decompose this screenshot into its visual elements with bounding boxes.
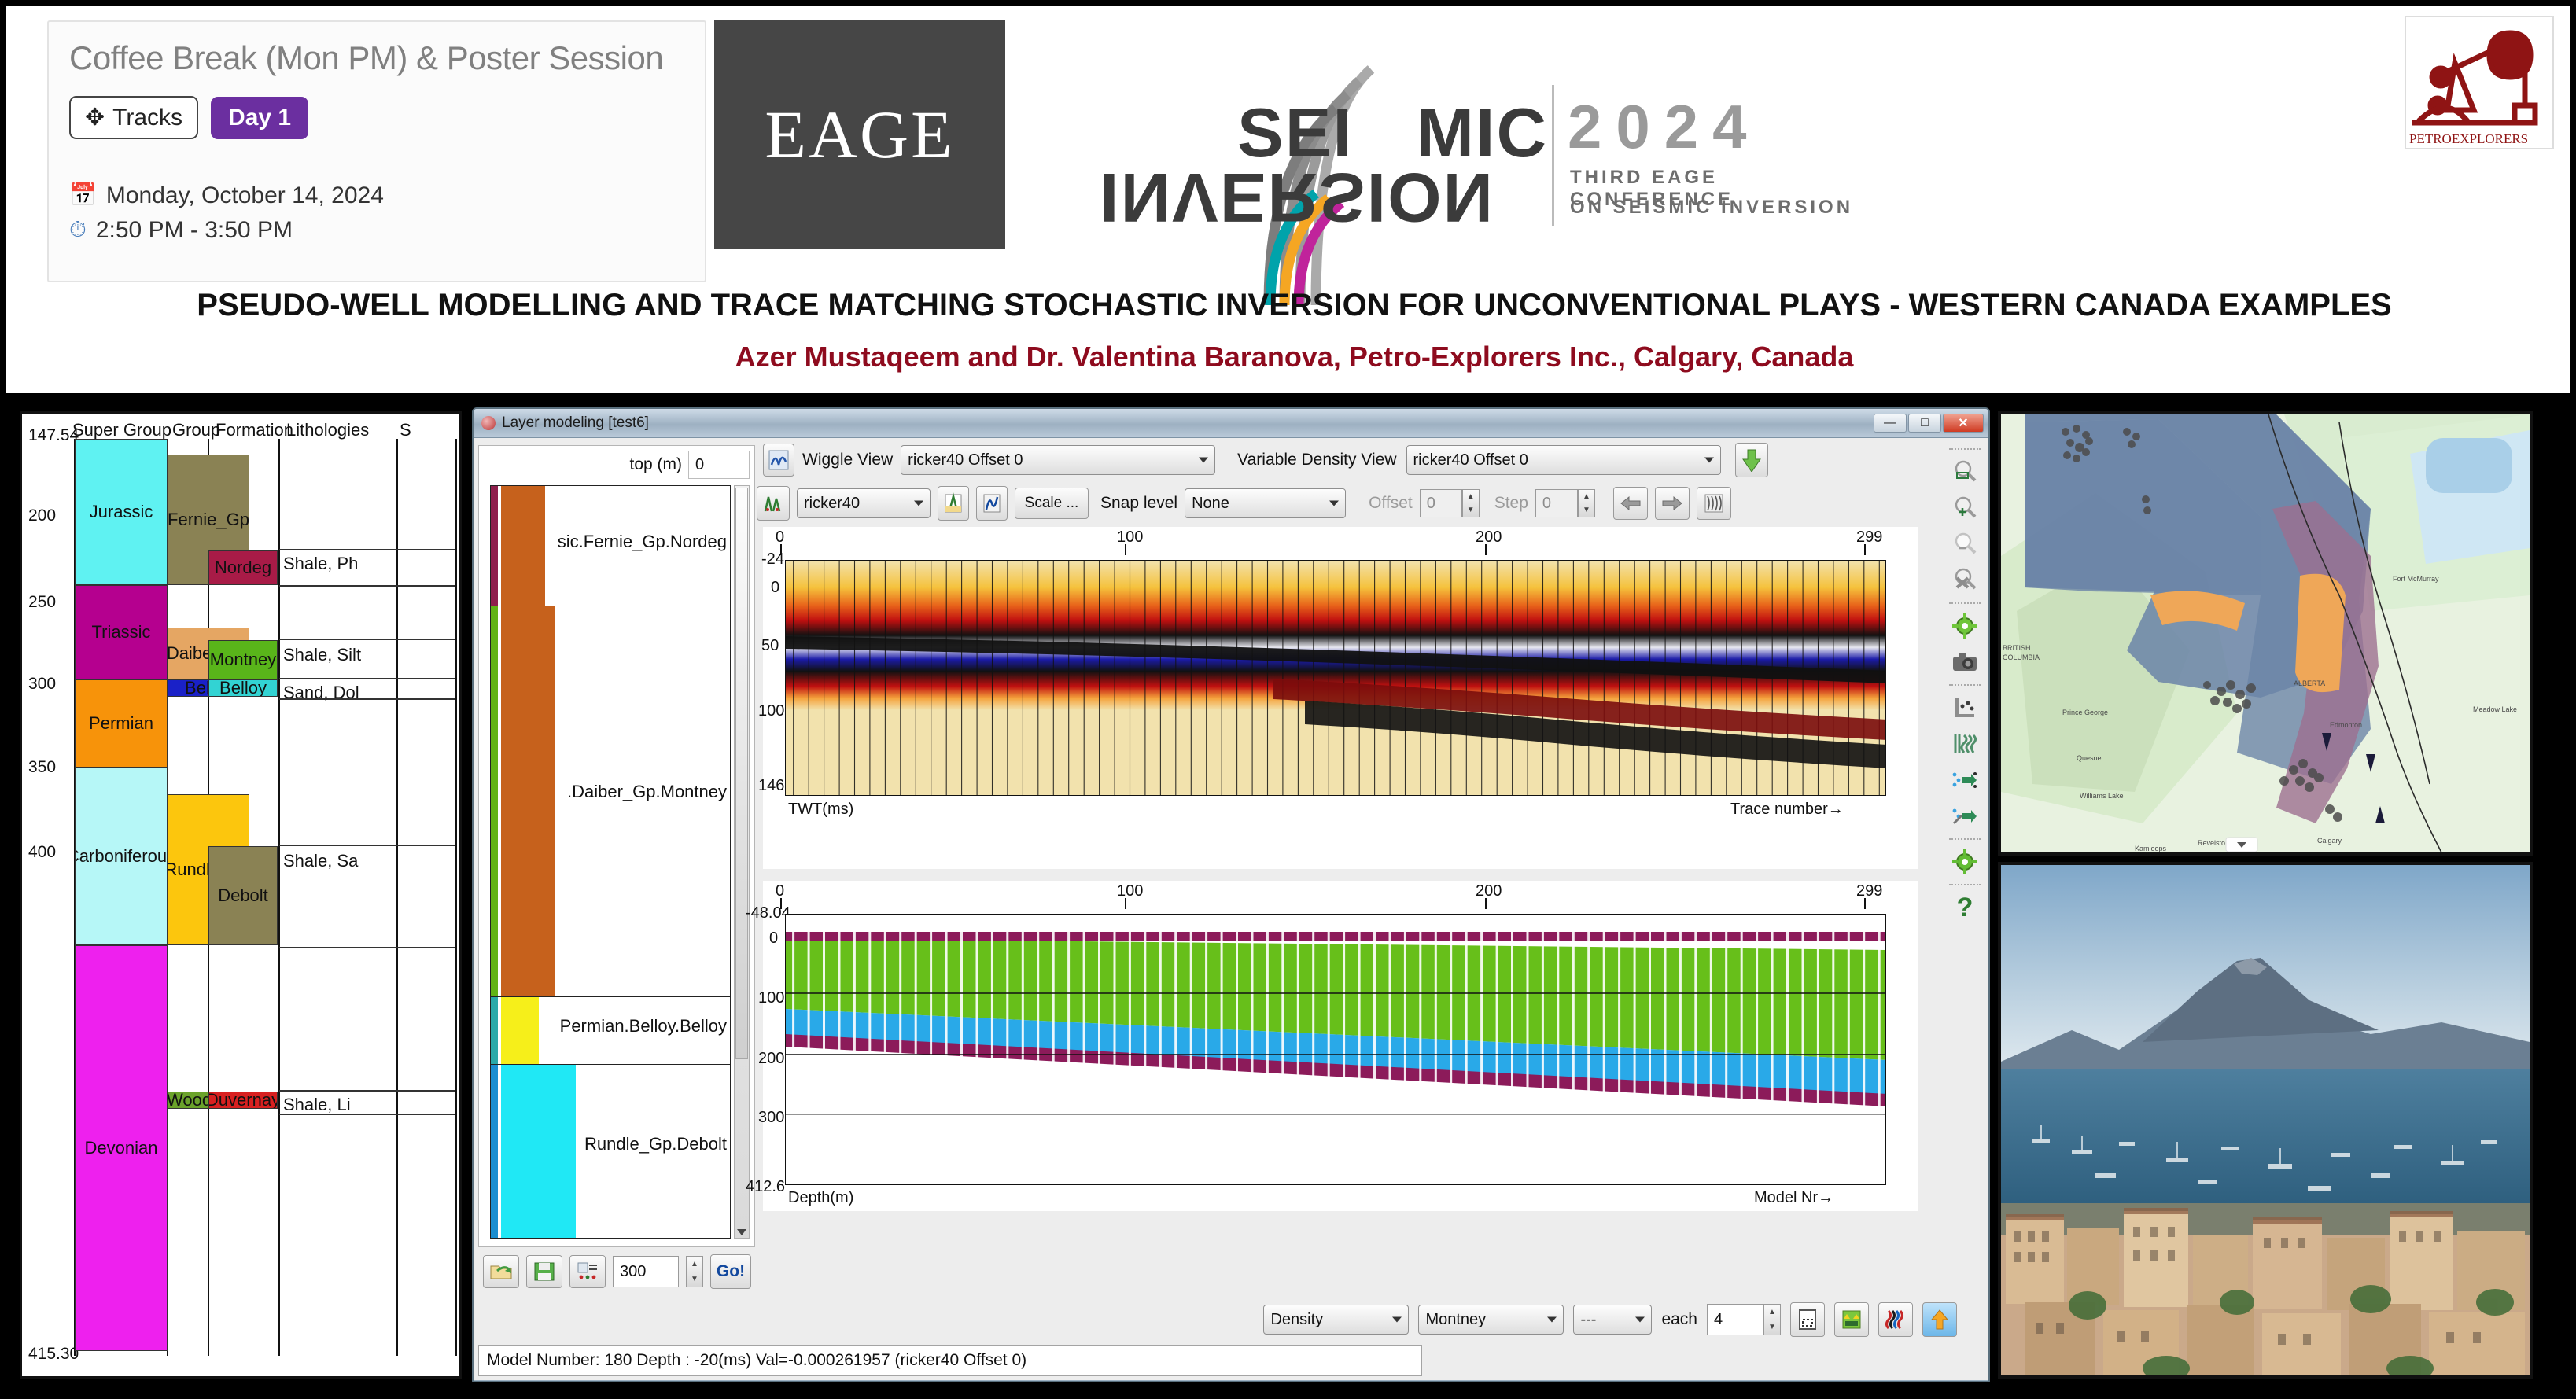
traces-icon[interactable] bbox=[1948, 727, 1982, 761]
model-toolbar: 300 ▲▼ Go! bbox=[478, 1252, 755, 1291]
session-date: Monday, October 14, 2024 bbox=[106, 179, 384, 213]
help-icon[interactable]: ? bbox=[1948, 890, 1982, 925]
step-input[interactable]: 0 bbox=[1535, 489, 1578, 517]
noise-edit-icon[interactable] bbox=[1948, 799, 1982, 834]
wavelet-select-value: ricker40 bbox=[804, 495, 860, 513]
svg-text:Quesnel: Quesnel bbox=[2077, 754, 2103, 762]
stratigraphic-column-panel: Super Group Group Formation Lithologies … bbox=[20, 411, 462, 1379]
each-input[interactable]: 4 bbox=[1707, 1304, 1763, 1335]
zoom-out-icon[interactable] bbox=[1948, 527, 1982, 561]
depth-tick-400: 400 bbox=[28, 843, 56, 862]
property-value: Density bbox=[1270, 1311, 1323, 1329]
layer-segment-label: Rundle_Gp.Debolt bbox=[584, 1134, 727, 1154]
go-button[interactable]: Go! bbox=[710, 1254, 751, 1289]
status-bar: Model Number: 180 Depth : -20(ms) Val=-0… bbox=[478, 1345, 1422, 1376]
svg-text:COLUMBIA: COLUMBIA bbox=[2003, 653, 2040, 661]
svg-text:Edmonton: Edmonton bbox=[2330, 721, 2362, 729]
zoom-reset-icon[interactable] bbox=[1948, 563, 1982, 598]
window-titlebar[interactable]: Layer modeling [test6] — □ ✕ bbox=[474, 409, 1988, 438]
poster-body: Super Group Group Formation Lithologies … bbox=[0, 399, 2576, 1399]
y-tick-m24: -24 bbox=[761, 550, 784, 569]
settings-gear-icon[interactable] bbox=[1948, 609, 1982, 643]
offset-stepper[interactable]: ▲▼ bbox=[1462, 489, 1480, 517]
export-up-arrow-icon[interactable] bbox=[1922, 1302, 1957, 1337]
lithology-belloy: Sand, Dol bbox=[283, 683, 359, 703]
depth-tick-300: 300 bbox=[28, 675, 56, 694]
layer-segment-label: sic.Fernie_Gp.Nordeg bbox=[558, 532, 727, 552]
formation-value: Montney bbox=[1425, 1311, 1486, 1329]
supergroup-jurassic: Jurassic bbox=[75, 439, 168, 585]
session-badges: ✥ Tracks Day 1 bbox=[69, 96, 684, 139]
wiggle-display-icon[interactable] bbox=[976, 486, 1008, 521]
variable-density-label: Variable Density View bbox=[1237, 451, 1396, 469]
eage-logo-text: EAGE bbox=[765, 95, 954, 174]
svg-text:Prince George: Prince George bbox=[2062, 709, 2108, 716]
apply-green-arrow-icon[interactable] bbox=[1735, 443, 1768, 477]
svg-text:ALBERTA: ALBERTA bbox=[2294, 679, 2325, 687]
layer-model-panel: top (m) 0 sic.Fernie_Gp.Nordeg .Daiber_G bbox=[478, 445, 755, 1247]
lithology-debolt: Shale, Sa bbox=[283, 851, 358, 871]
layer-segment[interactable]: .Daiber_Gp.Montney bbox=[491, 606, 730, 997]
scale-button[interactable]: Scale ... bbox=[1015, 488, 1089, 519]
each-stepper[interactable]: ▲▼ bbox=[1763, 1304, 1781, 1335]
poster-header: Coffee Break (Mon PM) & Poster Session ✥… bbox=[0, 0, 2576, 399]
axes-icon[interactable] bbox=[1948, 690, 1982, 725]
lithology-duvernay: Shale, Li bbox=[283, 1095, 351, 1115]
strat-header-formation: Formation bbox=[216, 420, 293, 440]
maximize-button[interactable]: □ bbox=[1908, 414, 1941, 433]
formation-montney: Montney bbox=[208, 640, 278, 679]
logo-inversion-text: INVERSION bbox=[1100, 157, 1494, 237]
top-depth-input[interactable]: 0 bbox=[688, 451, 750, 479]
conference-logo: SEI|||MIC INVERSION 2024 THIRD EAGE CONF… bbox=[1100, 22, 1886, 305]
layer-segment[interactable]: Rundle_Gp.Debolt bbox=[491, 1065, 730, 1238]
offset-label: Offset bbox=[1369, 494, 1413, 513]
eage-logo: EAGE bbox=[714, 20, 1005, 249]
view-tool-rail: ? bbox=[1943, 440, 1987, 1287]
snap-level-select[interactable]: None bbox=[1185, 488, 1346, 518]
y2-tick-300: 300 bbox=[758, 1109, 784, 1127]
logo-divider bbox=[1552, 85, 1554, 226]
window-title: Layer modeling [test6] bbox=[502, 414, 649, 432]
session-card: Coffee Break (Mon PM) & Poster Session ✥… bbox=[47, 20, 706, 282]
y2-tick-0: 0 bbox=[769, 930, 778, 948]
y2-axis-label: Depth(m) bbox=[788, 1189, 853, 1207]
scroll-down-icon[interactable] bbox=[737, 1229, 746, 1235]
lith-rule-9 bbox=[279, 1114, 455, 1115]
page-title: PSEUDO-WELL MODELLING AND TRACE MATCHING… bbox=[6, 288, 2576, 323]
strat-inner: Super Group Group Formation Lithologies … bbox=[27, 418, 455, 1371]
layer-panel-scrollbar[interactable] bbox=[734, 485, 750, 1239]
wavelet-icon[interactable] bbox=[763, 444, 794, 477]
advanced-gear-icon[interactable] bbox=[1948, 845, 1982, 879]
marquee-select-icon[interactable] bbox=[1790, 1302, 1825, 1337]
svg-text:Meadow Lake: Meadow Lake bbox=[2473, 705, 2517, 713]
logo-year: 2024 bbox=[1568, 91, 1761, 163]
tracks-button[interactable]: ✥ Tracks bbox=[69, 96, 198, 139]
svg-text:Williams Lake: Williams Lake bbox=[2080, 792, 2124, 800]
strat-header-lithologies: Lithologies bbox=[286, 420, 369, 440]
x-tick-200: 200 bbox=[1476, 528, 1502, 547]
camera-icon[interactable] bbox=[1948, 645, 1982, 679]
svg-text:Kamloops: Kamloops bbox=[2135, 845, 2167, 852]
depth-tick-250: 250 bbox=[28, 593, 56, 612]
lith-rule-6 bbox=[279, 845, 455, 846]
wiggle-view-select[interactable]: ricker40 Offset 0 bbox=[901, 445, 1215, 475]
snap-level-label: Snap level bbox=[1100, 494, 1177, 513]
lith-rule-7 bbox=[279, 947, 455, 948]
model-plot-area[interactable] bbox=[785, 914, 1886, 1185]
clock-icon: ⏱ bbox=[69, 214, 87, 246]
lith-rule-4 bbox=[279, 678, 455, 679]
formation-select[interactable]: Montney bbox=[1418, 1305, 1564, 1335]
shuffle-icon: ✥ bbox=[85, 104, 105, 131]
close-button[interactable]: ✕ bbox=[1943, 414, 1984, 433]
lith-rule-2 bbox=[279, 585, 455, 587]
layer-modeling-window: Layer modeling [test6] — □ ✕ Wiggle View… bbox=[472, 407, 1990, 1382]
calendar-icon: 📅 bbox=[69, 179, 97, 212]
logo-subtitle-2: ON SEISMIC INVERSION bbox=[1570, 197, 1853, 219]
extra-select[interactable]: --- bbox=[1573, 1305, 1652, 1335]
x-tick-299: 299 bbox=[1856, 528, 1882, 547]
authors-line: Azer Mustaqeem and Dr. Valentina Baranov… bbox=[6, 341, 2576, 374]
variable-density-select[interactable]: ricker40 Offset 0 bbox=[1406, 445, 1721, 475]
colrule-4 bbox=[278, 439, 280, 1356]
formation-nordeg: Nordeg bbox=[208, 550, 278, 585]
y-tick-50: 50 bbox=[761, 637, 779, 655]
offset-input[interactable]: 0 bbox=[1420, 489, 1462, 517]
crossplot-icon[interactable] bbox=[757, 486, 790, 521]
step-stepper[interactable]: ▲▼ bbox=[1578, 489, 1595, 517]
tracks-label: Tracks bbox=[112, 105, 182, 131]
petro-logo-text: PETROEXPLORERS bbox=[2409, 131, 2528, 146]
x2-tick-200: 200 bbox=[1476, 882, 1502, 900]
window-controls: — □ ✕ bbox=[1874, 414, 1984, 433]
supergroup-triassic: Triassic bbox=[75, 585, 168, 679]
layer-segment[interactable]: sic.Fernie_Gp.Nordeg bbox=[491, 486, 730, 606]
step-label: Step bbox=[1494, 494, 1528, 513]
x-tick-100: 100 bbox=[1117, 528, 1143, 547]
zoom-in-icon[interactable] bbox=[1948, 491, 1982, 525]
property-select[interactable]: Density bbox=[1263, 1305, 1409, 1335]
noise-add-icon[interactable] bbox=[1948, 763, 1982, 797]
supergroup-carboniferous: Carboniferous bbox=[75, 768, 168, 945]
y-tick-146: 146 bbox=[758, 777, 784, 795]
model-count-input[interactable]: 300 bbox=[613, 1256, 679, 1287]
depth-bottom: 415.30 bbox=[28, 1345, 79, 1364]
seismic-plot-area[interactable] bbox=[785, 560, 1886, 796]
seismic-gather-chart[interactable]: 0 100 200 299 -24 0 50 100 146 bbox=[763, 527, 1918, 869]
session-title: Coffee Break (Mon PM) & Poster Session bbox=[69, 39, 684, 77]
x2-tick-100: 100 bbox=[1117, 882, 1143, 900]
lith-rule-3 bbox=[279, 639, 455, 640]
log-curve-icon[interactable] bbox=[938, 486, 969, 521]
depth-top: 147.54 bbox=[28, 426, 79, 445]
display-toolbar: Density Montney --- each 4 ▲▼ bbox=[1263, 1302, 1957, 1337]
lithology-nordeg: Shale, Ph bbox=[283, 554, 358, 574]
petroexplorers-logo: PETROEXPLORERS bbox=[2405, 16, 2554, 149]
scrollbar-thumb[interactable] bbox=[735, 488, 748, 1059]
depth-tick-200: 200 bbox=[28, 506, 56, 525]
depth-model-chart[interactable]: 0 100 200 299 -48.04 0 100 200 300 412.6 bbox=[763, 881, 1918, 1211]
lith-rule-1 bbox=[279, 549, 455, 550]
layer-segment[interactable]: Permian.Belloy.Belloy bbox=[491, 997, 730, 1065]
model-settings-icon[interactable] bbox=[569, 1255, 606, 1288]
wiggle-view-value: ricker40 Offset 0 bbox=[908, 451, 1023, 469]
top-depth-row: top (m) 0 bbox=[629, 451, 750, 479]
density-display-icon[interactable] bbox=[1697, 487, 1731, 520]
poster-root: Coffee Break (Mon PM) & Poster Session ✥… bbox=[0, 0, 2576, 1399]
save-disk-icon[interactable] bbox=[526, 1255, 562, 1288]
open-folder-icon[interactable] bbox=[483, 1255, 519, 1288]
supergroup-permian: Permian bbox=[75, 679, 168, 768]
y2-tick-100: 100 bbox=[758, 989, 784, 1007]
naples-vesuvius-photo bbox=[1998, 862, 2533, 1379]
layer-segment-label: Permian.Belloy.Belloy bbox=[560, 1016, 727, 1036]
supergroup-devonian: Devonian bbox=[75, 945, 168, 1351]
formation-debolt: Debolt bbox=[208, 846, 278, 945]
wavelet-select[interactable]: ricker40 bbox=[797, 488, 931, 518]
western-canada-play-map: BRITISHCOLUMBIA ALBERTA Fort McMurray Ed… bbox=[1998, 411, 2533, 856]
layer-segment-label: .Daiber_Gp.Montney bbox=[567, 782, 727, 802]
x-axis-label: Trace number→ bbox=[1730, 801, 1844, 819]
variable-density-value: ricker40 Offset 0 bbox=[1413, 451, 1528, 469]
y2-tick-top: -48.04 bbox=[746, 904, 790, 922]
toolbar-row-2: ricker40 Scale ... Snap level None Offse… bbox=[757, 482, 1944, 525]
svg-text:Fort McMurray: Fort McMurray bbox=[2393, 575, 2439, 583]
zoom-rect-icon[interactable] bbox=[1948, 455, 1982, 489]
y-tick-100: 100 bbox=[758, 702, 784, 720]
formation-belloy: Belloy bbox=[208, 679, 278, 697]
colrule-6 bbox=[455, 439, 457, 1356]
arrow-right-icon[interactable] bbox=[1655, 487, 1690, 520]
strat-header-group: Group bbox=[172, 420, 220, 440]
depth-tick-350: 350 bbox=[28, 758, 56, 777]
day-badge[interactable]: Day 1 bbox=[211, 97, 308, 139]
minimize-button[interactable]: — bbox=[1874, 414, 1907, 433]
y2-tick-200: 200 bbox=[758, 1050, 784, 1068]
formation-duvernay: Duvernay bbox=[208, 1092, 278, 1109]
extra-value: --- bbox=[1580, 1311, 1596, 1329]
wiggle-view-label: Wiggle View bbox=[802, 451, 893, 469]
svg-text:BRITISH: BRITISH bbox=[2003, 644, 2031, 652]
model-count-stepper[interactable]: ▲▼ bbox=[686, 1256, 703, 1287]
each-label: each bbox=[1661, 1310, 1697, 1329]
snap-level-value: None bbox=[1192, 495, 1229, 513]
arrow-left-icon[interactable] bbox=[1613, 487, 1648, 520]
multi-curve-icon[interactable] bbox=[1878, 1302, 1913, 1337]
y-tick-0: 0 bbox=[771, 579, 779, 597]
lith-rule-5 bbox=[279, 698, 455, 700]
svg-text:Calgary: Calgary bbox=[2317, 837, 2342, 845]
lith-rule-8 bbox=[279, 1090, 455, 1092]
app-icon bbox=[481, 416, 496, 430]
layer-stack[interactable]: sic.Fernie_Gp.Nordeg .Daiber_Gp.Montney … bbox=[490, 485, 731, 1239]
colrule-5 bbox=[396, 439, 398, 1356]
x2-axis-label: Model Nr→ bbox=[1754, 1189, 1833, 1207]
color-table-icon[interactable] bbox=[1834, 1302, 1869, 1337]
lithology-montney: Shale, Silt bbox=[283, 645, 361, 665]
strat-header-s: S bbox=[400, 420, 411, 440]
top-depth-label: top (m) bbox=[629, 455, 682, 474]
x2-tick-299: 299 bbox=[1856, 882, 1882, 900]
strat-header-supergroup: Super Group bbox=[72, 420, 171, 440]
session-time: 2:50 PM - 3:50 PM bbox=[96, 213, 293, 248]
y2-tick-bottom: 412.6 bbox=[746, 1178, 785, 1196]
session-meta: 📅 Monday, October 14, 2024 ⏱ 2:50 PM - 3… bbox=[69, 179, 684, 247]
y-axis-label: TWT(ms) bbox=[788, 801, 853, 819]
